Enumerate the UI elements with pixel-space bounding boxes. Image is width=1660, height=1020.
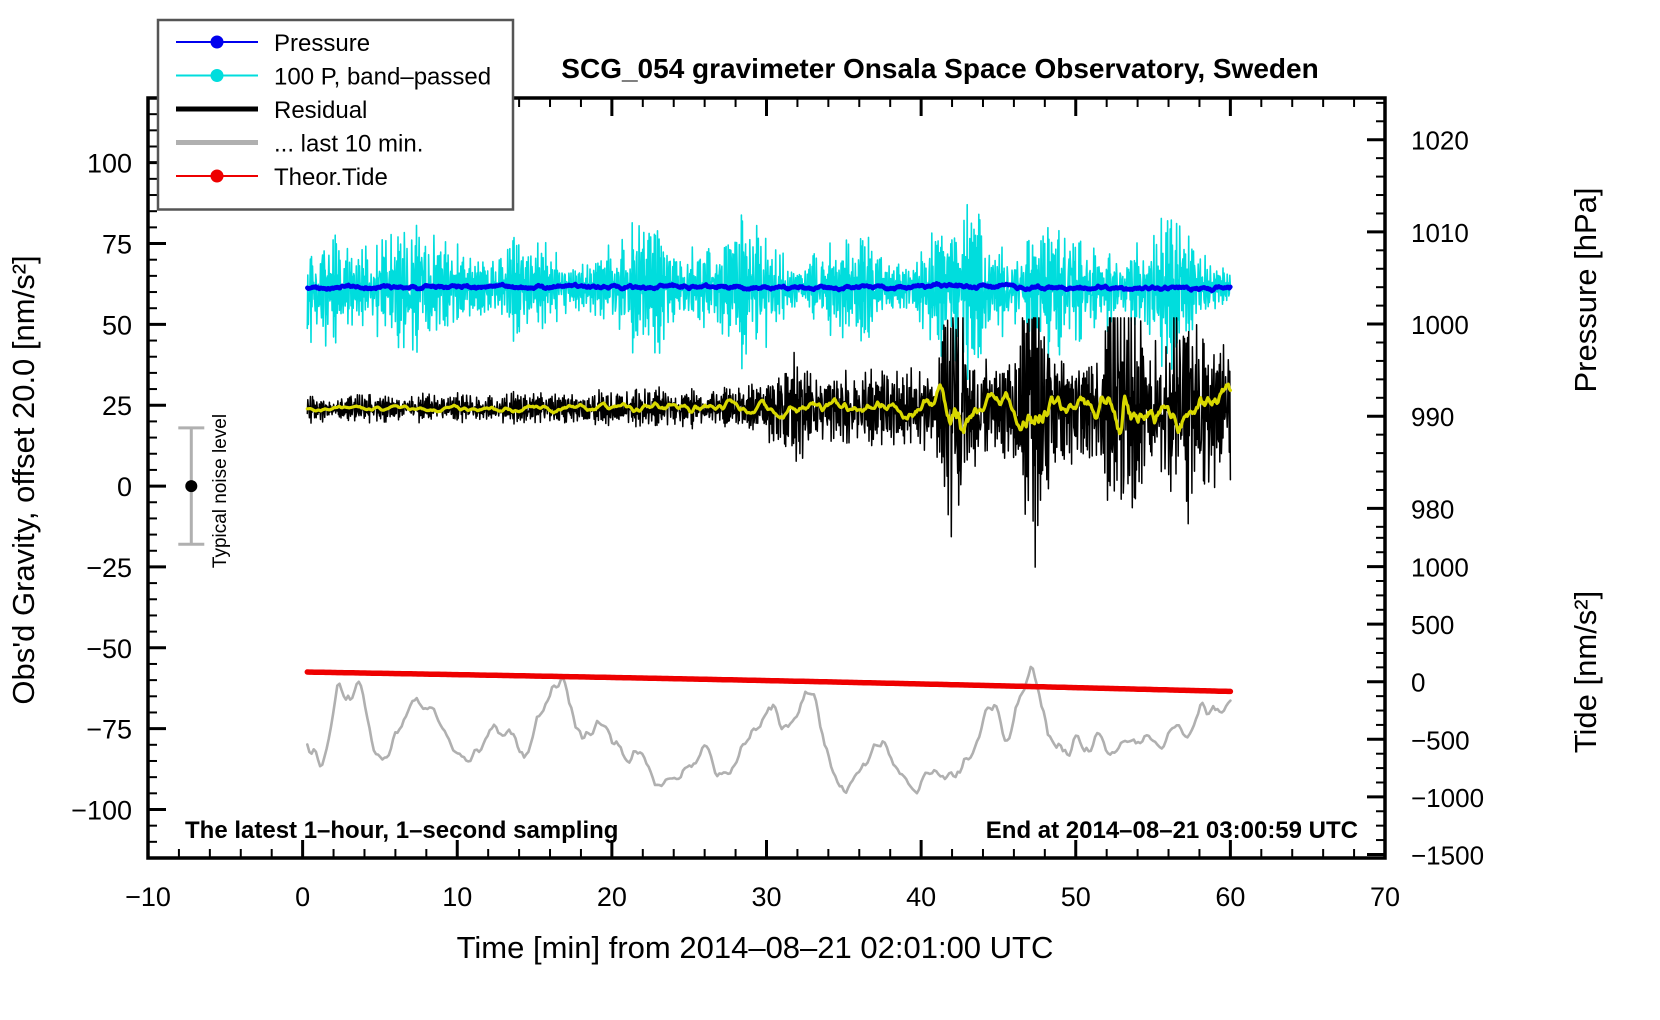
chart-legend[interactable]: Pressure100 P, band–passedResidual... la…	[158, 20, 513, 210]
legend-item-label: ... last 10 min.	[274, 131, 423, 158]
pressure-axis-title: Pressure [hPa]	[1568, 187, 1603, 392]
legend-item-label: Theor.Tide	[274, 164, 388, 191]
tide-tick-label: −1500	[1411, 840, 1484, 870]
x-tick-label: 10	[442, 882, 472, 912]
y-tick-label: 25	[102, 391, 132, 421]
y-tick-label: −25	[86, 553, 132, 583]
chart-root: −10010203040506070 1007550250−25−50−75−1…	[0, 0, 1660, 1020]
legend-item-label: 100 P, band–passed	[274, 64, 491, 91]
y-tick-label: 50	[102, 310, 132, 340]
pressure-tick-label: 990	[1411, 402, 1454, 432]
tide-tick-label: −1000	[1411, 783, 1484, 813]
tide-tick-label: −500	[1411, 725, 1470, 755]
legend-marker-icon	[211, 69, 224, 82]
legend-marker-icon	[211, 170, 224, 183]
y-tick-label: 75	[102, 230, 132, 260]
tide-tick-label: 1000	[1411, 553, 1469, 583]
y-tick-label: −100	[71, 795, 132, 825]
legend-marker-icon	[211, 36, 224, 49]
x-tick-label: 30	[751, 882, 781, 912]
legend-item-label: Pressure	[274, 30, 370, 57]
tide-axis-title: Tide [nm/s²]	[1568, 591, 1603, 754]
tide-tick-label: 0	[1411, 668, 1425, 698]
x-tick-label: 70	[1370, 882, 1400, 912]
x-tick-label: 50	[1061, 882, 1091, 912]
x-tick-label: 20	[597, 882, 627, 912]
pressure-tick-label: 1020	[1411, 126, 1469, 156]
pressure-tick-label: 1010	[1411, 218, 1469, 248]
y-axis-title: Obs'd Gravity, offset 20.0 [nm/s²]	[6, 255, 41, 704]
x-tick-label: 40	[906, 882, 936, 912]
y-tick-label: 0	[117, 472, 132, 502]
y-tick-label: 100	[87, 149, 132, 179]
x-tick-label: −10	[125, 882, 171, 912]
y-tick-label: −75	[86, 715, 132, 745]
typical-noise-level-label: Typical noise level	[210, 414, 231, 568]
chart-title: SCG_054 gravimeter Onsala Space Observat…	[561, 53, 1318, 84]
annotation-bottom-right: End at 2014–08–21 03:00:59 UTC	[986, 817, 1358, 844]
gravimeter-time-series-chart: −10010203040506070 1007550250−25−50−75−1…	[0, 0, 1660, 1020]
x-axis-title: Time [min] from 2014–08–21 02:01:00 UTC	[457, 930, 1054, 965]
x-tick-label: 60	[1215, 882, 1245, 912]
pressure-tick-label: 980	[1411, 494, 1454, 524]
legend-item-label: Residual	[274, 97, 367, 124]
pressure-tick-label: 1000	[1411, 310, 1469, 340]
y-tick-label: −50	[86, 634, 132, 664]
x-tick-label: 0	[295, 882, 310, 912]
tide-tick-label: 500	[1411, 610, 1454, 640]
annotation-bottom-left: The latest 1–hour, 1–second sampling	[185, 817, 618, 844]
